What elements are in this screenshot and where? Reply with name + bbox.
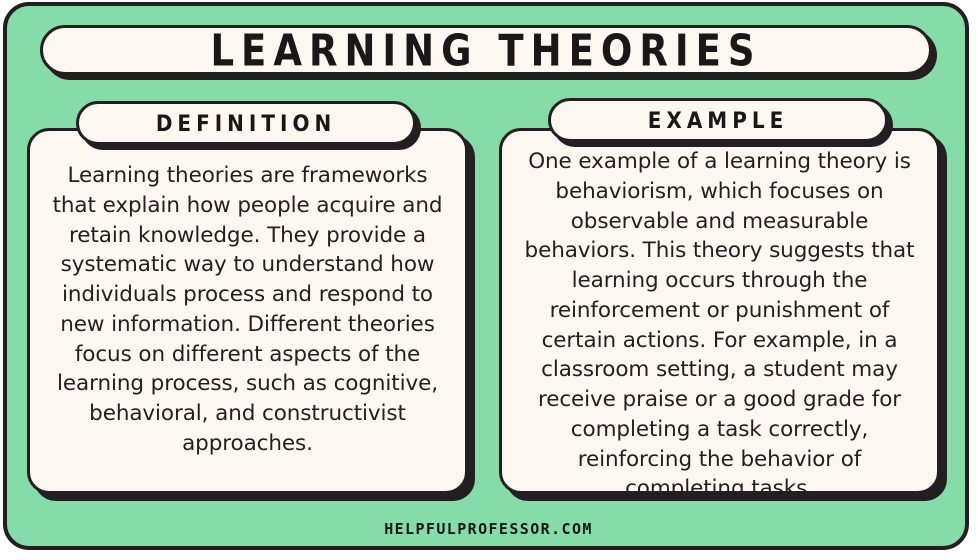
footer: HELPFULPROFESSOR.COM (0, 520, 977, 539)
definition-badge: DEFINITION (76, 101, 416, 145)
footer-site-url: HELPFULPROFESSOR.COM (384, 520, 593, 538)
example-badge: EXAMPLE (548, 98, 888, 142)
definition-body-text: Learning theories are frameworks that ex… (44, 161, 451, 459)
example-body-text: One example of a learning theory is beha… (516, 147, 923, 504)
infographic-canvas: LEARNING THEORIES Learning theories are … (0, 0, 977, 560)
definition-card: Learning theories are frameworks that ex… (27, 128, 468, 494)
definition-badge-label: DEFINITION (156, 112, 336, 134)
content-columns: Learning theories are frameworks that ex… (0, 0, 977, 560)
example-card: One example of a learning theory is beha… (499, 128, 940, 494)
example-badge-label: EXAMPLE (648, 109, 789, 131)
